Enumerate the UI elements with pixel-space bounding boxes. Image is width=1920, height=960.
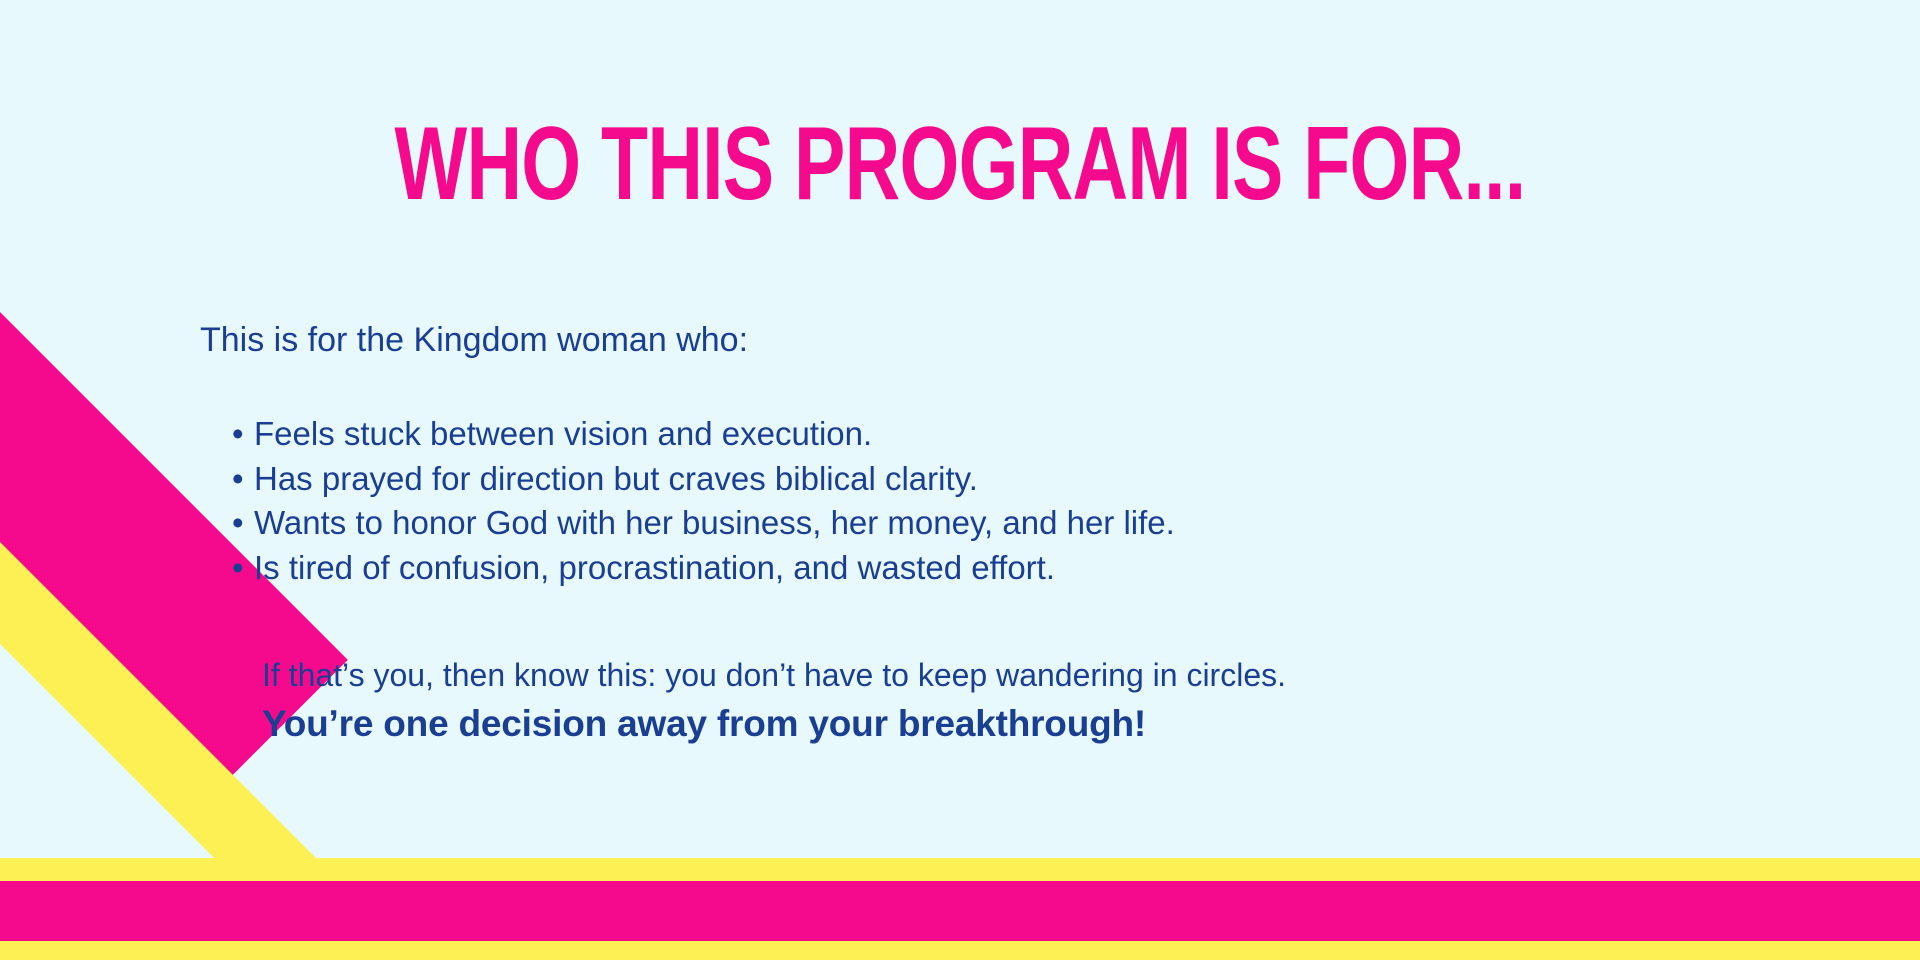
footer-yellow-stripe-top: [0, 858, 1920, 881]
bullet-dot-icon: •: [232, 501, 254, 546]
list-item: •Has prayed for direction but craves bib…: [232, 457, 1920, 502]
list-item-label: Feels stuck between vision and execution…: [254, 415, 872, 452]
list-item-label: Is tired of confusion, procrastination, …: [254, 549, 1055, 586]
closing-line-bold: You’re one decision away from your break…: [262, 697, 1920, 751]
footer-pink-stripe: [0, 881, 1920, 941]
footer-yellow-stripe-bottom: [0, 941, 1920, 960]
intro-line: This is for the Kingdom woman who:: [200, 320, 1920, 360]
bullet-dot-icon: •: [232, 457, 254, 502]
qualification-list: •Feels stuck between vision and executio…: [0, 412, 1920, 590]
bullet-dot-icon: •: [232, 412, 254, 457]
list-item: •Is tired of confusion, procrastination,…: [232, 546, 1920, 591]
body-content: This is for the Kingdom woman who: •Feel…: [0, 320, 1920, 751]
slide-canvas: WHO THIS PROGRAM IS FOR... This is for t…: [0, 0, 1920, 960]
closing-block: If that’s you, then know this: you don’t…: [0, 654, 1920, 751]
list-item-label: Wants to honor God with her business, he…: [254, 504, 1175, 541]
list-item: •Feels stuck between vision and executio…: [232, 412, 1920, 457]
page-title: WHO THIS PROGRAM IS FOR...: [250, 112, 1671, 216]
list-item-label: Has prayed for direction but craves bibl…: [254, 460, 978, 497]
closing-line-regular: If that’s you, then know this: you don’t…: [262, 654, 1920, 697]
bullet-dot-icon: •: [232, 546, 254, 591]
list-item: •Wants to honor God with her business, h…: [232, 501, 1920, 546]
